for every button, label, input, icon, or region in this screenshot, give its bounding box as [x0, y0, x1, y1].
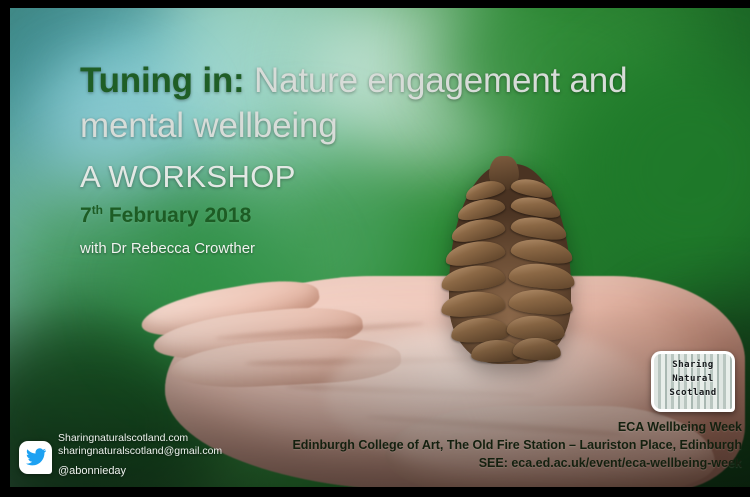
subtitle: A WORKSHOP: [80, 159, 296, 195]
website-url[interactable]: Sharingnaturalscotland.com: [58, 432, 222, 445]
logo-background-image: Sharing Natural Scotland: [654, 354, 732, 409]
presenter-name: with Dr Rebecca Crowther: [80, 240, 255, 257]
contact-info: Sharingnaturalscotland.com sharingnatura…: [58, 432, 222, 478]
date-rest: February 2018: [103, 204, 251, 227]
twitter-icon[interactable]: [19, 441, 52, 474]
email-address[interactable]: sharingnaturalscotland@gmail.com: [58, 445, 222, 458]
poster-root: Tuning in: Nature engagement and mental …: [0, 0, 750, 497]
sharing-natural-scotland-logo[interactable]: Sharing Natural Scotland: [651, 351, 735, 412]
date-ordinal: th: [92, 203, 103, 217]
logo-line-3: Scotland: [654, 386, 732, 400]
logo-line-2: Natural: [654, 372, 732, 386]
date-day: 7: [80, 204, 92, 227]
twitter-handle[interactable]: @abonnieday: [58, 465, 222, 478]
event-name: ECA Wellbeing Week: [222, 418, 742, 436]
page-title: Tuning in: Nature engagement and mental …: [80, 58, 680, 148]
twitter-bird-icon: [25, 448, 46, 466]
title-lead: Tuning in:: [80, 61, 245, 100]
event-venue: Edinburgh College of Art, The Old Fire S…: [222, 436, 742, 454]
event-date: 7th February 2018: [80, 203, 251, 228]
logo-text: Sharing Natural Scotland: [654, 358, 732, 400]
logo-line-1: Sharing: [654, 358, 732, 372]
event-link[interactable]: SEE: eca.ed.ac.uk/event/eca-wellbeing-we…: [222, 454, 742, 472]
event-details: ECA Wellbeing Week Edinburgh College of …: [222, 418, 742, 472]
